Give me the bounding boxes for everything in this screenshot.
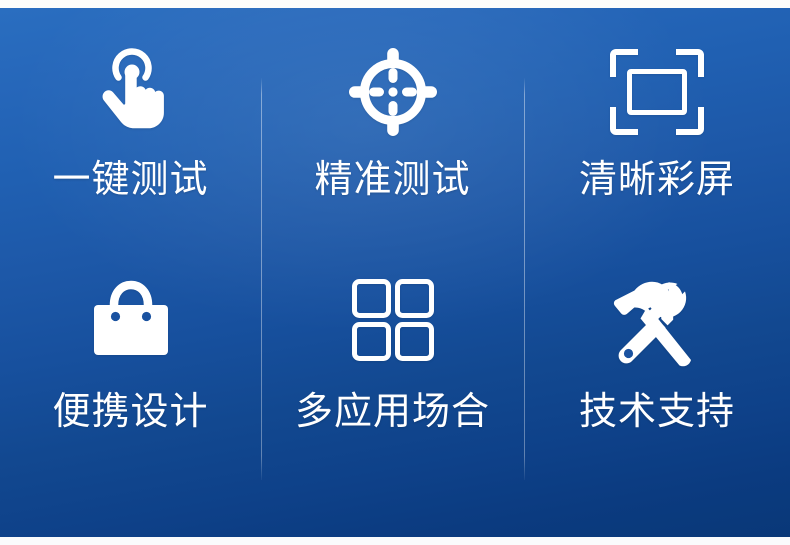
feature-label: 一键测试 [52, 160, 208, 198]
feature-label: 精准测试 [314, 160, 470, 198]
bottom-edge-strip [0, 537, 790, 545]
feature-label: 便携设计 [52, 392, 208, 430]
hammer-wrench-icon [607, 264, 707, 376]
screen-frame-icon [607, 38, 707, 146]
crosshair-target-icon [347, 38, 439, 146]
feature-grid: 一键测试 精准测试 [0, 8, 790, 537]
feature-banner: 一键测试 精准测试 [0, 0, 790, 545]
feature-label: 多应用场合 [295, 392, 490, 430]
feature-label: 清晰彩屏 [579, 160, 735, 198]
feature-label: 技术支持 [579, 392, 735, 430]
feature-item-precise-test[interactable]: 精准测试 [261, 38, 524, 264]
tap-finger-icon [88, 38, 174, 146]
column-divider-2 [524, 78, 525, 480]
handbag-icon [86, 264, 176, 376]
feature-item-clear-color-screen[interactable]: 清晰彩屏 [524, 38, 790, 264]
four-squares-grid-icon [349, 264, 437, 376]
top-edge-strip [0, 0, 790, 8]
feature-item-multi-scenario[interactable]: 多应用场合 [261, 264, 524, 490]
feature-item-technical-support[interactable]: 技术支持 [524, 264, 790, 490]
feature-item-one-key-test[interactable]: 一键测试 [0, 38, 261, 264]
column-divider-1 [261, 78, 262, 480]
feature-item-portable-design[interactable]: 便携设计 [0, 264, 261, 490]
